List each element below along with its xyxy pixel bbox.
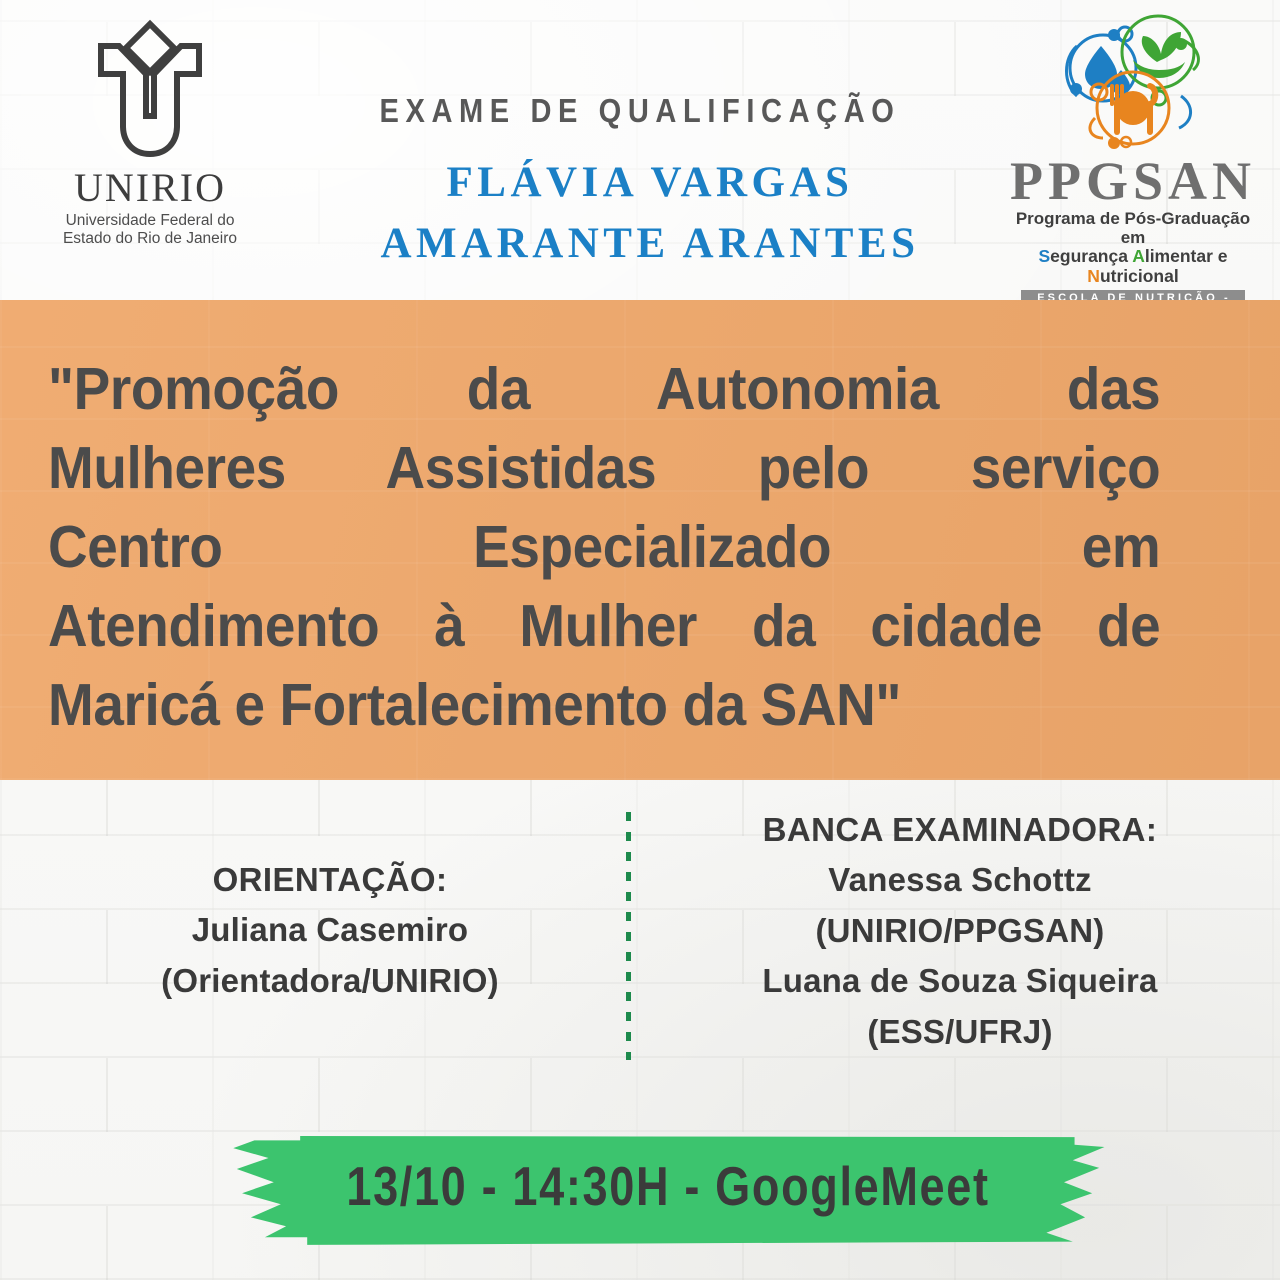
committee-section: BANCA EXAMINADORA: Vanessa Schottz (UNIR…	[660, 806, 1260, 1058]
unirio-subtitle-line1: Universidade Federal do	[40, 212, 260, 230]
unirio-acronym: UNIRIO	[40, 168, 260, 208]
event-datetime-text: 13/10 - 14:30H - GoogleMeet	[307, 1154, 1029, 1218]
thesis-title-line-5: Maricá e Fortalecimento da SAN"	[48, 666, 1160, 745]
advising-section: ORIENTAÇÃO: Juliana Casemiro (Orientador…	[60, 856, 600, 1006]
candidate-name: FLÁVIA VARGAS AMARANTE ARANTES	[250, 152, 1050, 274]
committee-member-2-affiliation: (ESS/UFRJ)	[660, 1007, 1260, 1058]
ppgsan-seguranca-rest: egurança	[1050, 246, 1132, 266]
committee-heading: BANCA EXAMINADORA:	[660, 806, 1260, 855]
ppgsan-n-letter: N	[1087, 266, 1100, 286]
advisor-affiliation: (Orientadora/UNIRIO)	[60, 956, 600, 1007]
thesis-title-line-4: Atendimento à Mulher da cidade de	[48, 587, 1160, 666]
advisor-name: Juliana Casemiro	[60, 905, 600, 956]
dotted-column-divider	[626, 812, 631, 1060]
ppgsan-emblem-icon	[1033, 10, 1233, 160]
ppgsan-a-letter: A	[1132, 246, 1145, 266]
poster-canvas: UNIRIO Universidade Federal do Estado do…	[0, 0, 1280, 1280]
committee-member-2-name: Luana de Souza Siqueira	[660, 956, 1260, 1007]
event-datetime-banner: 13/10 - 14:30H - GoogleMeet	[228, 1136, 1108, 1246]
ppgsan-nutricional-rest: utricional	[1100, 266, 1179, 286]
advising-heading: ORIENTAÇÃO:	[60, 856, 600, 905]
thesis-title-line-1: "Promoção da Autonomia das	[48, 350, 1160, 429]
thesis-title-line-2: Mulheres Assistidas pelo serviço	[48, 429, 1160, 508]
candidate-name-line1: FLÁVIA VARGAS	[250, 152, 1050, 213]
committee-member-1-name: Vanessa Schottz	[660, 855, 1260, 906]
unirio-subtitle: Universidade Federal do Estado do Rio de…	[40, 212, 260, 249]
candidate-name-line2: AMARANTE ARANTES	[250, 213, 1050, 274]
unirio-subtitle-line2: Estado do Rio de Janeiro	[40, 230, 260, 248]
thesis-title: "Promoção da Autonomia das Mulheres Assi…	[48, 350, 1160, 745]
committee-member-1-affiliation: (UNIRIO/PPGSAN)	[660, 906, 1260, 957]
unirio-logo: UNIRIO Universidade Federal do Estado do…	[40, 18, 260, 249]
event-type-kicker: EXAME DE QUALIFICAÇÃO	[77, 92, 1203, 130]
thesis-title-line-3: Centro Especializado em	[48, 508, 1160, 587]
ppgsan-alimentar-rest: limentar e	[1145, 246, 1228, 266]
